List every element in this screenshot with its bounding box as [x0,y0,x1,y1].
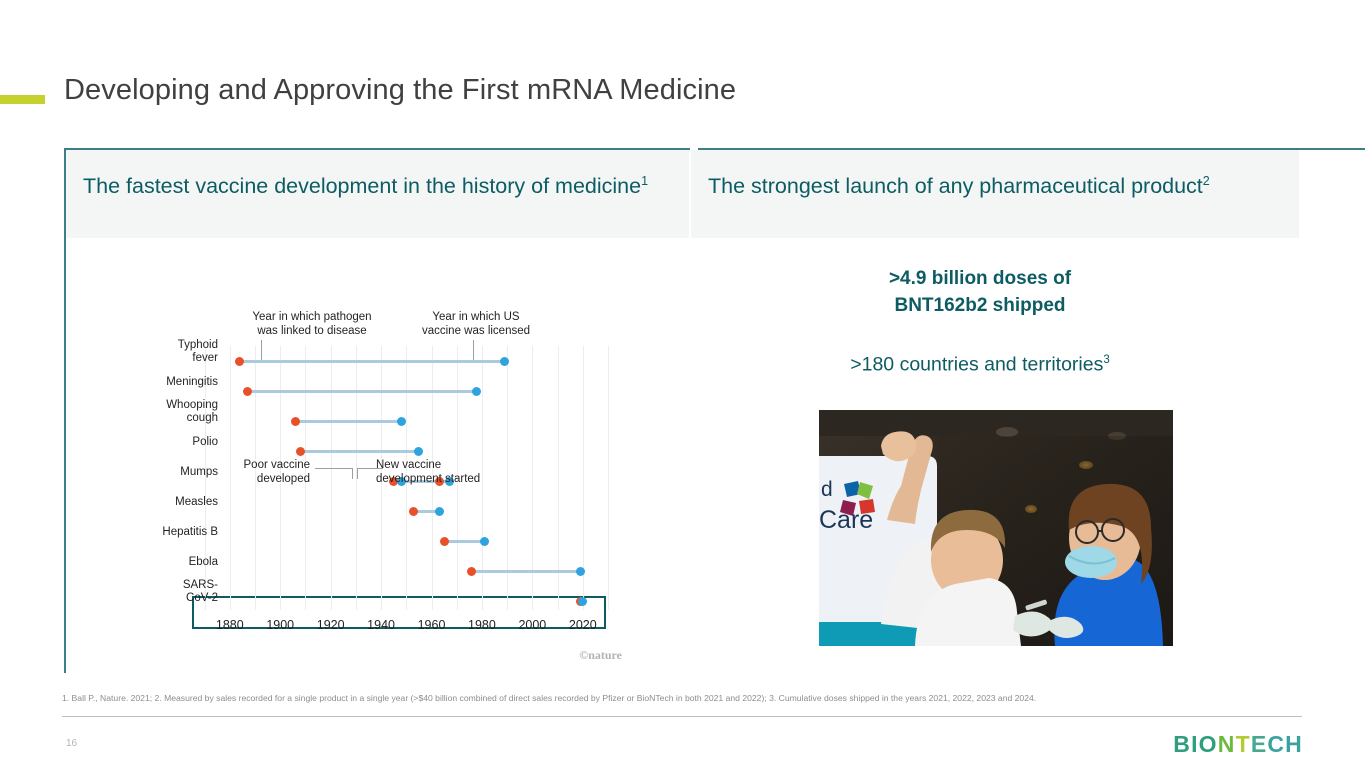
svg-text:d: d [821,478,833,501]
annotation-leader [357,468,383,469]
doses-shipped-line1: >4.9 billion doses of [780,265,1180,292]
annotation-new-vaccine: New vaccine development started [376,458,511,486]
chart-x-tick: 1920 [317,618,345,632]
doses-shipped-headline: >4.9 billion doses of BNT162b2 shipped [780,265,1180,319]
logo-part-5: CH [1267,731,1303,757]
chart-connector [300,450,418,453]
countries-footnote-ref: 3 [1103,354,1109,366]
panel-header-right: The strongest launch of any pharmaceutic… [691,150,1299,238]
nature-credit: ©nature [579,648,622,663]
dot-vaccine-licensed [435,507,444,516]
dot-vaccine-licensed [576,567,585,576]
vaccine-timeline-chart: Year in which pathogen was linked to dis… [150,300,630,680]
panel-header-left-text: The fastest vaccine development in the h… [83,174,641,198]
chart-x-tick: 1960 [418,618,446,632]
panel-header-left-footnote-ref: 1 [641,174,648,188]
countries-territories-text: >180 countries and territories [850,354,1103,376]
dot-pathogen-linked [291,417,300,426]
footer-rule [62,716,1302,717]
panel-header-right-footnote-ref: 2 [1203,174,1210,188]
dot-vaccine-licensed [397,417,406,426]
chart-connector [247,390,476,393]
title-accent-bar [0,95,45,104]
chart-x-axis: 18801900192019401960198020002020 [150,618,610,638]
chart-x-tick: 2000 [518,618,546,632]
annotation-leader [352,468,353,479]
chart-connector [472,570,580,573]
annotation-leader [357,468,358,479]
logo-part-2: N [1218,731,1236,757]
chart-row: Ebola [150,556,610,586]
dot-vaccine-licensed [578,597,587,606]
logo-part-4: E [1251,731,1268,757]
chart-row-label: Whooping cough [98,399,218,425]
annotation-leader [315,468,353,469]
chart-row: Hepatitis B [150,526,610,556]
dot-pathogen-linked [440,537,449,546]
chart-x-tick: 2020 [569,618,597,632]
chart-x-tick: 1980 [468,618,496,632]
dot-vaccine-licensed [500,357,509,366]
dot-pathogen-linked [409,507,418,516]
biontech-logo: BIONTECH [1173,731,1303,758]
chart-x-tick: 1940 [367,618,395,632]
dot-vaccine-licensed [472,387,481,396]
dot-pathogen-linked [467,567,476,576]
dot-pathogen-linked [296,447,305,456]
logo-part-3: T [1236,731,1251,757]
panel-header-left: The fastest vaccine development in the h… [66,150,689,238]
chart-row-label: Ebola [98,556,218,569]
chart-connector [444,540,484,543]
chart-row: MumpsPoor vaccine developedNew vaccine d… [150,466,610,496]
svg-text:Care: Care [819,506,873,534]
vaccination-photo: d Care [819,410,1173,646]
chart-x-tick: 1880 [216,618,244,632]
logo-part-1: BIO [1173,731,1218,757]
annotation-vaccine-licensed: Year in which US vaccine was licensed [415,310,537,338]
chart-row-label: Measles [98,496,218,509]
chart-row: Measles [150,496,610,526]
annotation-pathogen-linked: Year in which pathogen was linked to dis… [242,310,382,338]
doses-shipped-line2: BNT162b2 shipped [780,292,1180,319]
chart-row-label: Polio [98,436,218,449]
dot-pathogen-linked [243,387,252,396]
chart-plot-area: Typhoid feverMeningitisWhooping coughPol… [150,346,610,630]
page-number: 16 [66,738,77,749]
annotation-poor-vaccine: Poor vaccine developed [200,458,310,486]
slide: Developing and Approving the First mRNA … [0,0,1365,768]
page-title: Developing and Approving the First mRNA … [64,74,736,107]
countries-territories-stat: >180 countries and territories3 [760,347,1200,378]
dot-vaccine-licensed [480,537,489,546]
chart-x-tick: 1900 [266,618,294,632]
panel-header-right-text: The strongest launch of any pharmaceutic… [708,174,1203,198]
chart-row-label: Hepatitis B [98,526,218,539]
chart-row: Whooping cough [150,406,610,436]
chart-row-label: Meningitis [98,376,218,389]
chart-connector [295,420,401,423]
footnote-text: 1. Ball P., Nature. 2021; 2. Measured by… [62,693,1302,705]
chart-row: Meningitis [150,376,610,406]
chart-row-label: SARS- CoV-2 [98,579,218,605]
chart-connector [240,360,505,363]
dot-pathogen-linked [235,357,244,366]
chart-row-label: Typhoid fever [98,339,218,365]
chart-row: Typhoid fever [150,346,610,376]
dot-vaccine-licensed [414,447,423,456]
chart-row: SARS- CoV-2 [150,586,610,616]
